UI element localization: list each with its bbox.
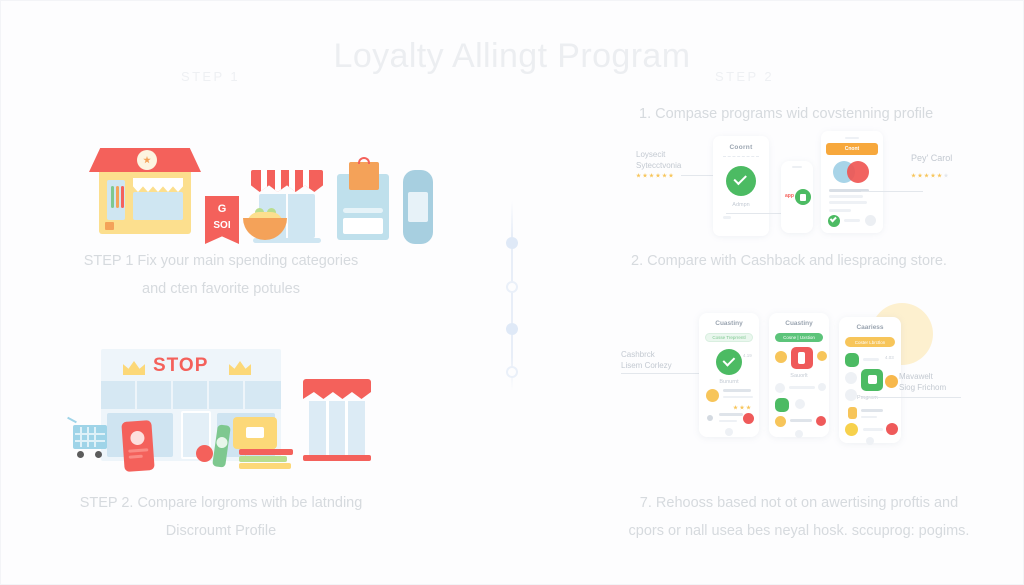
row-line [861,416,877,418]
row-line [789,386,815,389]
cart-handle [67,417,77,423]
timeline-dot[interactable] [506,281,518,293]
side-stall-base [303,455,371,461]
tile-glyph [868,375,877,384]
app-card-line [829,201,867,204]
brand-tile-green [845,353,859,367]
row-line [863,428,883,431]
row-line [719,420,737,422]
compare-card-1-pill: Cosse Treprrentl [705,333,753,342]
rating-stars [911,173,949,178]
label-right: Mavawelt Siog Frichom [899,371,946,393]
shopping-cart-icon [67,425,109,459]
status-dot-red [743,413,754,424]
red-phone-icon [121,420,154,472]
product-tube [403,170,433,244]
app-card[interactable]: Cnont [821,131,883,233]
home-indicator [725,428,733,436]
price-tag-icon [349,162,379,190]
illustration-shops-row: G SOI [81,136,381,236]
home-indicator [795,430,803,438]
side-stall-body [309,401,365,455]
store-band [101,381,281,409]
category-icon [775,351,787,363]
right-caption-3-line-2: cpors or nall usea bes neyal hosk. sccup… [599,517,999,545]
brand-circle-red [847,161,869,183]
right-caption-1: 1. Compase programs wid covstenning prof… [601,100,981,128]
phone-notch [792,166,802,168]
illustration-compare-cards: Cashbrck Lisem Corlezy Cuastiny Cosse Tr… [621,301,981,451]
stall-awning [251,170,323,192]
check-icon [726,166,756,196]
cart-wheel [95,451,102,458]
category-icon [845,423,858,436]
pay-badge-icon [795,189,811,205]
shop-window [107,180,125,220]
check-icon [828,215,840,227]
left-caption-2-line-2: Discroumt Profile [31,517,411,545]
step-tag-left: STEP 1 [181,69,240,84]
compare-card-1-caption: Bunurnt [699,379,759,385]
category-icon [848,407,857,419]
left-caption-2-line-1: STEP 2. Compare lorgroms with be latndin… [31,489,411,517]
apple-icon [196,445,213,462]
status-card-caption: Admpn [713,202,769,208]
right-caption-3-line-1: 7. Rehooss based not ot on awertising pr… [599,489,999,517]
app-card-line [829,195,863,198]
slide-canvas: Loyalty Allingt Program STEP 1 STEP 2 G … [0,0,1024,585]
app-card-handle [845,137,859,139]
side-stall-awning [303,379,371,399]
compare-card-3[interactable]: Caariess Coster Lbrctlon 4.03 Pmgrom [839,317,901,443]
leader-line [861,397,961,398]
compare-card-1-title: Cuastiny [699,320,759,327]
app-card-dot [865,215,876,226]
illustration-loyalty-cards: Loysecit Sytecctvonia Coornt Admpn app C… [621,131,971,241]
rating-stars [733,405,751,410]
tube-label [408,192,428,222]
center-timeline [506,201,518,391]
banner-line-2: SOI [205,220,239,231]
phone-badge [130,431,145,446]
status-dot-red [816,416,826,426]
timeline-rail [511,201,513,391]
left-caption-1: STEP 1 Fix your main spending categories… [31,247,411,303]
phone-app-label: app [785,193,794,199]
check-icon [716,349,742,375]
row-bullet [775,383,785,393]
sale-banner: G SOI [205,196,239,244]
illustration-storefront: STOP [81,341,371,471]
label-left-line-1: Cashbrck [621,349,672,360]
home-indicator [866,437,874,445]
status-card-title: Coornt [713,144,769,151]
brand-tile-green [775,398,789,412]
phone-line [129,455,143,459]
row-line [723,396,753,398]
timeline-dot[interactable] [506,323,518,335]
label-left-line-2: Sytecctvonia [636,160,681,171]
app-card-header: Cnont [826,143,878,155]
right-caption-3: 7. Rehooss based not ot on awertising pr… [599,489,999,545]
label-right-line-2: Siog Frichom [899,382,946,393]
books-stack [239,449,293,469]
page-title: Loyalty Allingt Program [1,37,1023,76]
label-left-line-2: Lisem Corlezy [621,360,672,371]
app-card-line [829,209,851,212]
stop-sign-text: STOP [153,355,208,377]
label-left: Loysecit Sytecctvonia [636,149,681,171]
leader-line [621,373,699,374]
timeline-dot[interactable] [506,237,518,249]
label-left: Cashbrck Lisem Corlezy [621,349,672,371]
card-box [343,218,383,234]
row-bullet [845,372,857,384]
compare-card-3-amount: 4.03 [885,355,894,360]
shop-accent [105,222,114,230]
status-card[interactable]: Coornt Admpn [713,136,769,236]
left-caption-1-line-1: STEP 1 Fix your main spending categories [31,247,411,275]
category-icon [706,389,719,402]
right-caption-2: 2. Compare with Cashback and liespracing… [601,247,1001,275]
app-card-line [844,219,860,222]
row-bullet [795,399,805,409]
left-caption-1-line-2: and cten favorite potules [31,275,411,303]
timeline-dot[interactable] [506,366,518,378]
row-label [719,413,743,416]
cart-basket [73,425,107,449]
row-label [861,409,883,412]
card-bar [343,208,383,213]
compare-card-3-title: Caariess [839,324,901,331]
coupon-card [337,174,389,240]
compare-card-1[interactable]: Cuastiny Cosse Treprrentl 4.19 Bunurnt [699,313,759,437]
rating-stars [636,173,674,178]
row-bullet [707,415,713,421]
speech-bubble-icon [233,417,277,449]
compare-card-3-caption: Pmgrom [857,395,878,401]
compare-card-2-pill: Cosne | Uxstion [775,333,823,342]
compare-card-2-title: Cuastiny [769,320,829,327]
status-dot-red [886,423,898,435]
side-stall [303,379,371,463]
stall-divider [286,194,288,238]
compare-card-2[interactable]: Cuastiny Cosne | Uxstion Sauorlt [769,313,829,437]
row-label [790,419,812,422]
category-icon [817,351,827,361]
market-stall [249,170,325,244]
card-meta [723,216,731,219]
shop-door [133,192,183,220]
tile-glyph [798,352,805,364]
app-card-header-label: Cnont [826,146,878,152]
leader-line [861,191,923,192]
phone-mock[interactable]: app [781,161,813,233]
phone-line [128,448,148,452]
step-tag-right: STEP 2 [715,69,774,84]
leader-line [681,175,713,176]
label-right: Pey' Carol [911,153,952,164]
banner-line-1: G [205,203,239,215]
left-caption-2: STEP 2. Compare lorgroms with be latndin… [31,489,411,545]
label-left-line-1: Loysecit [636,149,681,160]
row-line [863,358,879,361]
compare-card-1-amount: 4.19 [743,353,752,358]
category-icon [775,416,786,427]
row-bullet [818,383,826,391]
category-icon [885,375,898,388]
compare-card-2-caption: Sauorlt [769,373,829,379]
row-bullet [845,389,857,401]
label-right-line-1: Mavawelt [899,371,946,382]
row-label [723,389,751,392]
compare-card-3-pill: Coster Lbrctlon [845,337,895,347]
status-card-divider [723,156,759,160]
cart-wheel [77,451,84,458]
